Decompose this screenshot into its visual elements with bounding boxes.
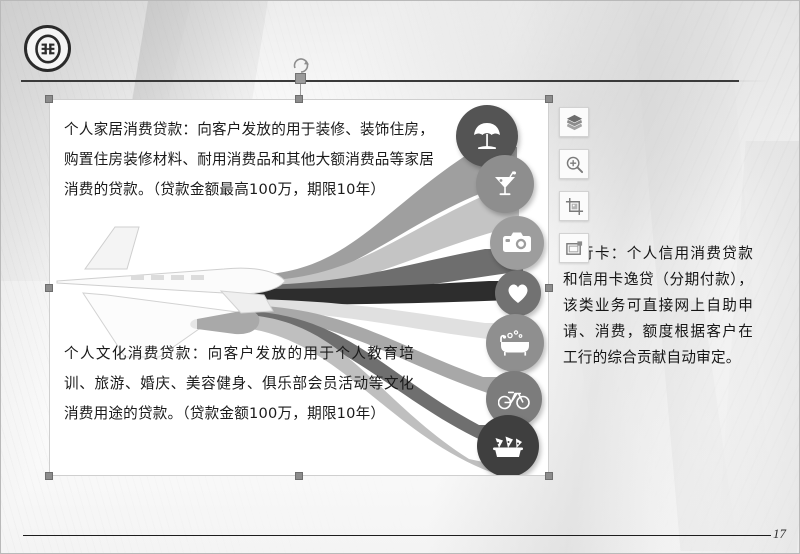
- rotate-handle[interactable]: [295, 73, 306, 84]
- cocktail-icon: [476, 155, 534, 213]
- crop-button[interactable]: [559, 191, 589, 221]
- resize-handle-w[interactable]: [45, 284, 53, 292]
- home-consumer-loan-text: 个人家居消费贷款：向客户发放的用于装修、装饰住房，购置住房装修材料、耐用消费品和…: [64, 115, 434, 205]
- food-icon: [477, 415, 539, 476]
- resize-handle-e[interactable]: [545, 284, 553, 292]
- bathtub-icon: [486, 314, 544, 372]
- resize-handle-sw[interactable]: [45, 472, 53, 480]
- resize-handle-n[interactable]: [295, 95, 303, 103]
- resize-handle-ne[interactable]: [545, 95, 553, 103]
- consumer-loan-infographic[interactable]: 个人家居消费贷款：向客户发放的用于装修、装饰住房，购置住房装修材料、耐用消费品和…: [49, 99, 549, 476]
- rotate-handle-arrow[interactable]: [291, 55, 311, 75]
- bank-card-text: 银行卡：个人信用消费贷款和信用卡逸贷（分期付款），该类业务可直接网上自助申请、消…: [563, 241, 753, 371]
- zoom-in-button[interactable]: [559, 149, 589, 179]
- layers-icon: [565, 113, 584, 132]
- footer-divider: [23, 535, 771, 536]
- layers-button[interactable]: [559, 107, 589, 137]
- page-number: 17: [773, 526, 786, 542]
- icbc-logo: [24, 25, 71, 72]
- header-divider-fade: [301, 80, 771, 82]
- resize-handle-s[interactable]: [295, 472, 303, 480]
- resize-handle-nw[interactable]: [45, 95, 53, 103]
- slide-canvas: 个人家居消费贷款：向客户发放的用于装修、装饰住房，购置住房装修材料、耐用消费品和…: [0, 0, 800, 554]
- picture-tool-palette[interactable]: [559, 107, 591, 275]
- zoom-in-icon: [565, 155, 584, 174]
- crop-icon: [565, 197, 584, 216]
- resize-handle-se[interactable]: [545, 472, 553, 480]
- culture-consumer-loan-text: 个人文化消费贷款：向客户发放的用于个人教育培训、旅游、婚庆、美容健身、俱乐部会员…: [64, 339, 414, 429]
- heart-icon: [495, 270, 541, 316]
- camera-icon: [490, 216, 544, 270]
- mask-frame-icon: [565, 239, 584, 258]
- mask-frame-button[interactable]: [559, 233, 589, 263]
